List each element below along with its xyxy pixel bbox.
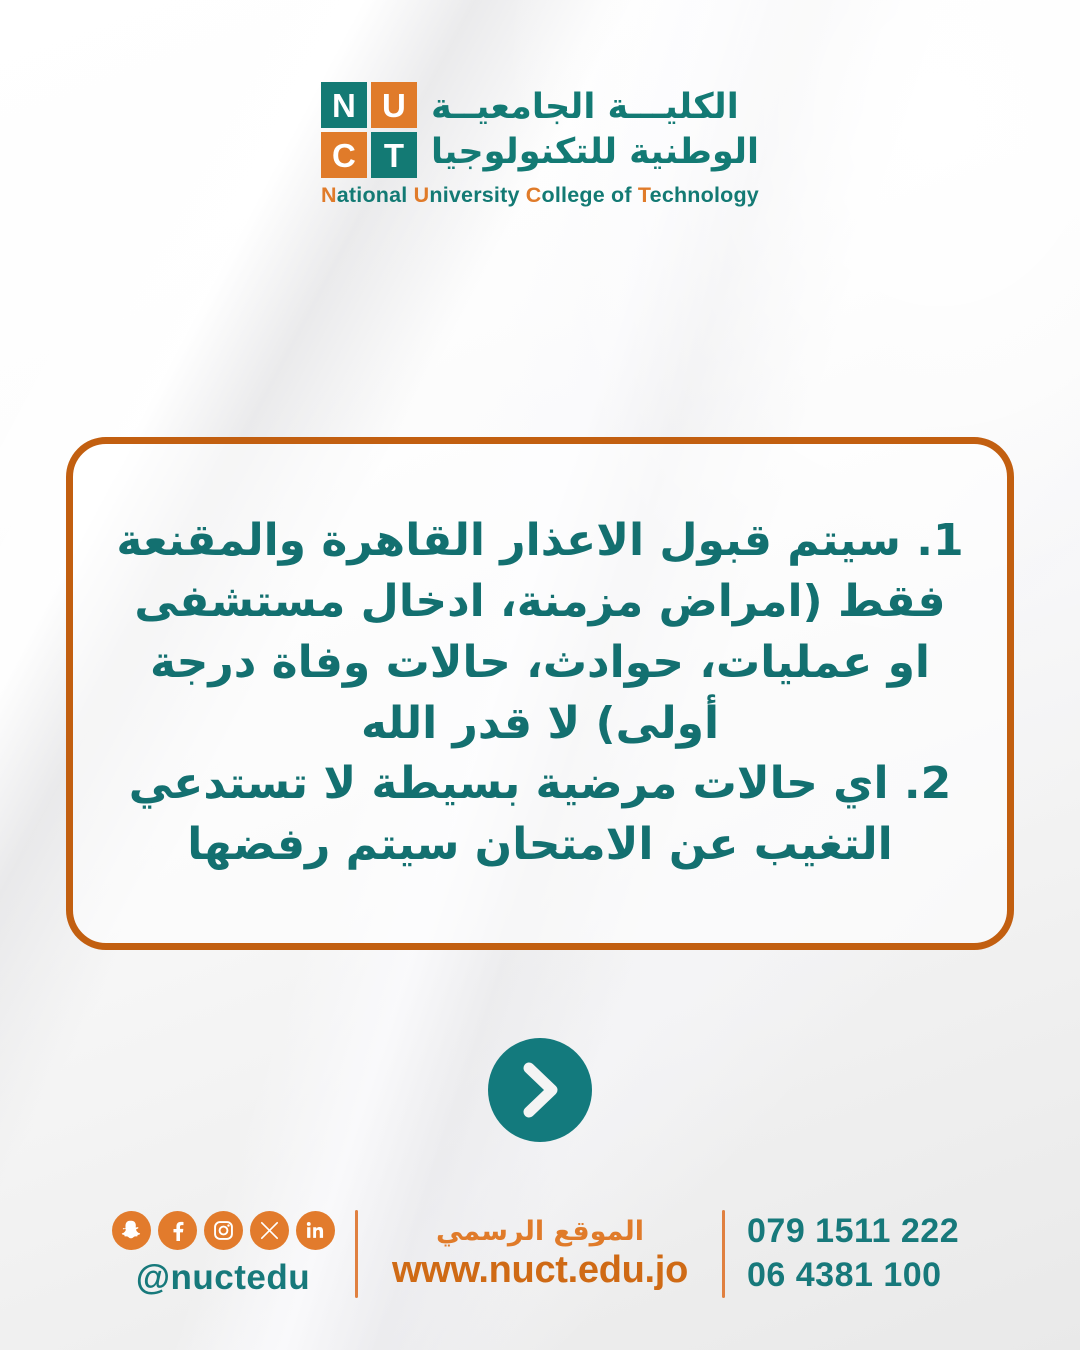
x-twitter-icon[interactable] [250,1211,289,1250]
website-label-arabic: الموقع الرسمي [436,1216,644,1247]
notice-line: التغيب عن الامتحان سيتم رفضها [95,815,985,876]
monogram-cell-c: C [321,132,367,178]
monogram-cell-u: U [371,82,417,128]
social-handle[interactable]: @nuctedu [136,1258,310,1298]
website-url[interactable]: www.nuct.edu.jo [392,1249,688,1292]
footer-bar: @nuctedu الموقع الرسمي www.nuct.edu.jo 0… [0,1198,1080,1310]
footer-website-block: الموقع الرسمي www.nuct.edu.jo [380,1216,700,1292]
social-icon-row [112,1211,335,1250]
next-slide-button[interactable] [488,1038,592,1142]
brand-en-part: U [414,183,430,207]
notice-line: فقط (امراض مزمنة، ادخال مستشفى [95,572,985,633]
footer-separator-1 [355,1210,358,1298]
notice-line: 1. سيتم قبول الاعذار القاهرة والمقنعة [95,511,985,572]
brand-en-part: T [638,183,650,207]
brand-en-part: niversity [429,183,525,207]
notice-line: أولى) لا قدر الله [95,694,985,755]
brand-en-part: C [526,183,542,207]
brand-en-part: ollege of [542,183,638,207]
brand-en-part: echnology [650,183,759,207]
monogram-cell-t: T [371,132,417,178]
footer-phone-block: 079 1511 222 06 4381 100 [747,1210,967,1297]
brand-logo: N U C T الكليـــة الجامعيــة الوطنية للت… [0,82,1080,208]
brand-en-part: N [321,183,337,207]
nuct-monogram: N U C T [321,82,417,178]
logo-row: N U C T الكليـــة الجامعيــة الوطنية للت… [321,82,759,178]
footer-social-block: @nuctedu [113,1211,333,1298]
brand-arabic-name: الكليـــة الجامعيــة الوطنية للتكنولوجيا [431,85,759,175]
notice-text: 1. سيتم قبول الاعذار القاهرة والمقنعة فق… [73,511,1007,875]
footer-separator-2 [722,1210,725,1298]
notice-card: 1. سيتم قبول الاعذار القاهرة والمقنعة فق… [66,437,1014,950]
brand-arabic-line-2: الوطنية للتكنولوجيا [431,130,759,175]
snapchat-icon[interactable] [112,1211,151,1250]
facebook-icon[interactable] [158,1211,197,1250]
poster-canvas: N U C T الكليـــة الجامعيــة الوطنية للت… [0,0,1080,1350]
instagram-icon[interactable] [204,1211,243,1250]
brand-english-name: National University College of Technolog… [321,183,759,208]
chevron-right-icon [517,1061,563,1119]
linkedin-icon[interactable] [296,1211,335,1250]
notice-line: 2. اي حالات مرضية بسيطة لا تستدعي [95,754,985,815]
phone-number-secondary[interactable]: 06 4381 100 [747,1254,942,1298]
notice-line: او عمليات، حوادث، حالات وفاة درجة [95,633,985,694]
brand-en-part: ational [337,183,414,207]
brand-arabic-line-1: الكليـــة الجامعيــة [431,85,739,130]
phone-number-primary[interactable]: 079 1511 222 [747,1210,959,1254]
monogram-cell-n: N [321,82,367,128]
